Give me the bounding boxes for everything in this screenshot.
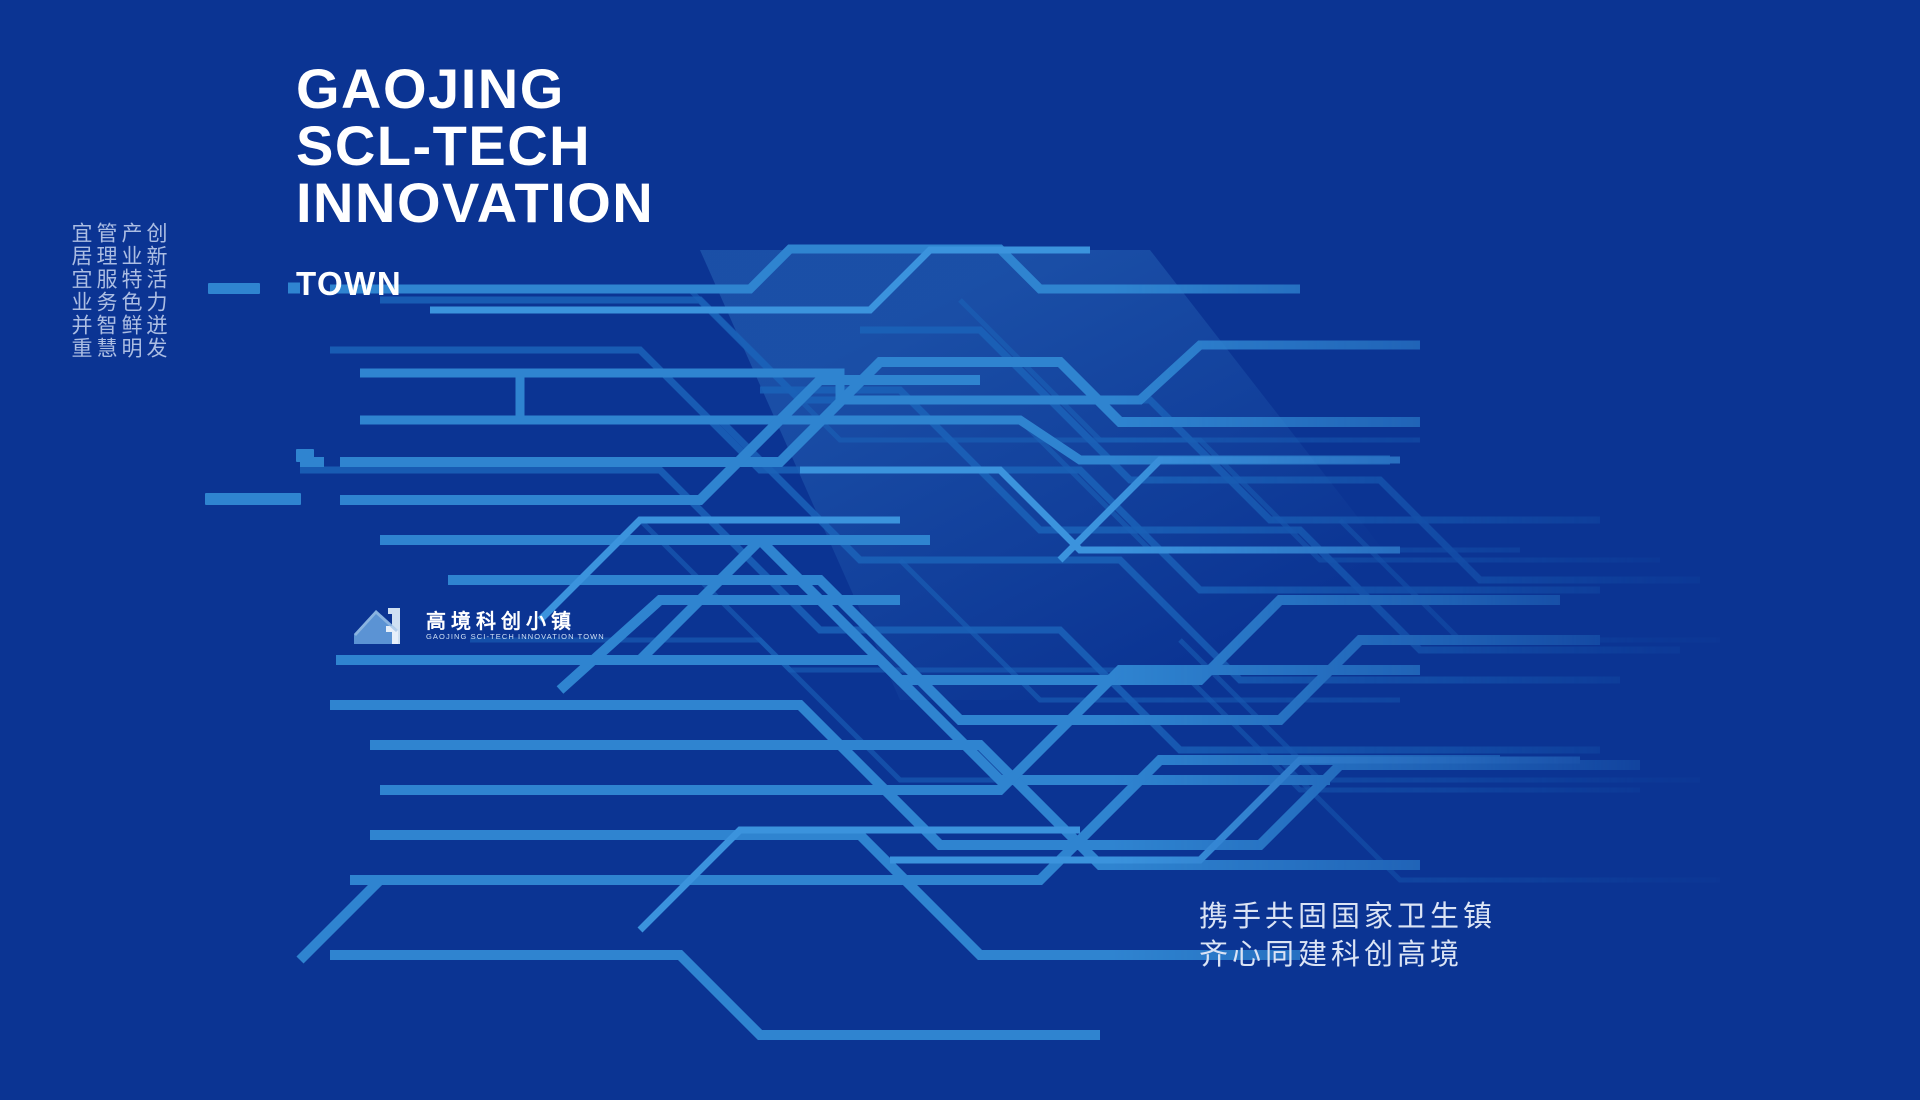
bottom-slogan: 携手共固国家卫生镇 齐心同建科创高境 xyxy=(1199,897,1496,974)
logo-lockup: 高境科创小镇 GAOJING SCI-TECH INNOVATION TOWN xyxy=(352,604,605,648)
logo-chinese-name: 高境科创小镇 xyxy=(426,611,605,631)
circuit-line-background xyxy=(0,0,1920,1100)
vertical-slogan-column-2: 产业特色鲜明 xyxy=(120,222,141,422)
vertical-slogan-column-1: 创新活力迸发 xyxy=(145,222,166,422)
headline-line-1: GAOJING xyxy=(296,60,654,117)
bottom-slogan-line-2: 齐心同建科创高境 xyxy=(1199,935,1496,973)
bottom-slogan-line-1: 携手共固国家卫生镇 xyxy=(1199,897,1496,935)
vertical-slogan: 创新活力迸发 产业特色鲜明 管理服务智慧 宜居宜业并重 xyxy=(70,222,166,422)
page-title: GAOJING SCL-TECH INNOVATION xyxy=(296,60,654,231)
house-building-icon xyxy=(352,604,416,648)
logo-english-name: GAOJING SCI-TECH INNOVATION TOWN xyxy=(426,633,605,641)
vertical-slogan-column-4: 宜居宜业并重 xyxy=(70,222,91,422)
headline-line-2: SCL-TECH xyxy=(296,117,654,174)
headline-line-3: INNOVATION xyxy=(296,174,654,231)
poster-canvas: 创新活力迸发 产业特色鲜明 管理服务智慧 宜居宜业并重 GAOJING SCL-… xyxy=(0,0,1920,1100)
vertical-slogan-column-3: 管理服务智慧 xyxy=(95,222,116,422)
headline-line-4: TOWN xyxy=(296,265,402,303)
